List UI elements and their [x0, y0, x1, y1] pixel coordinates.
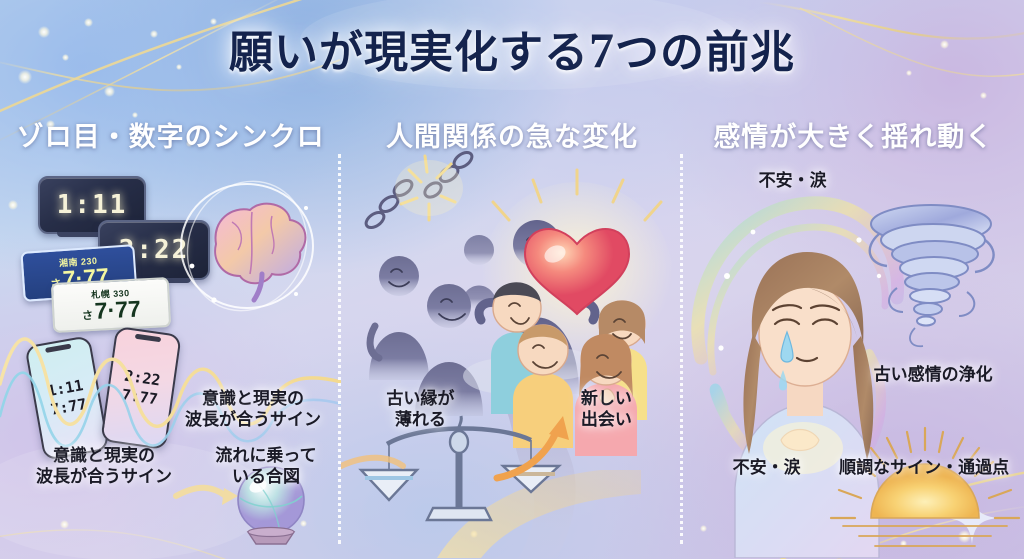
panel-numerology: ゾロ目・数字のシンクロ 1:11 2:22 湘南 230 さ7·77 札幌 33… — [0, 108, 341, 559]
caption-crystal-ball: 流れに乗って いる合図 — [196, 445, 336, 488]
arrow-icon — [176, 488, 238, 505]
label-emotion-purification: 古い感情の浄化 — [851, 360, 1016, 385]
label-anxiety-tears-bottom: 不安・涙 — [707, 453, 827, 478]
column-3-illustrations — [683, 148, 1024, 558]
crying-woman-icon — [735, 252, 879, 558]
columns-container: ゾロ目・数字のシンクロ 1:11 2:22 湘南 230 さ7·77 札幌 33… — [0, 108, 1024, 559]
label-anxiety-tears-top: 不安・涙 — [723, 166, 863, 191]
page-title: 願いが現実化する7つの前兆 — [0, 16, 1024, 80]
title-part-b: つの前兆 — [615, 28, 795, 77]
caption-new-encounters: 新しい 出会い — [541, 388, 671, 431]
column-2-illustrations — [341, 148, 682, 558]
panel-relationships: 人間関係の急な変化 — [341, 108, 682, 559]
infographic-root: 願いが現実化する7つの前兆 ゾロ目・数字のシンクロ 1:11 2:22 湘南 2… — [0, 0, 1024, 559]
panel-emotions: 感情が大きく揺れ動く — [683, 108, 1024, 559]
label-smooth-sign: 順調なサイン・通過点 — [827, 453, 1022, 478]
brain-icon — [215, 204, 305, 300]
caption-old-ties: 古い縁が 薄れる — [355, 388, 485, 431]
caption-brain-waveform: 意識と現実の 波長が合うサイン — [178, 388, 328, 431]
caption-devices: 意識と現実の 波長が合うサイン — [14, 445, 194, 488]
title-number: 7 — [589, 22, 615, 78]
tornado-icon — [869, 205, 993, 346]
title-part-a: 願いが現実化する — [229, 28, 589, 77]
column-1-illustrations — [0, 148, 341, 548]
